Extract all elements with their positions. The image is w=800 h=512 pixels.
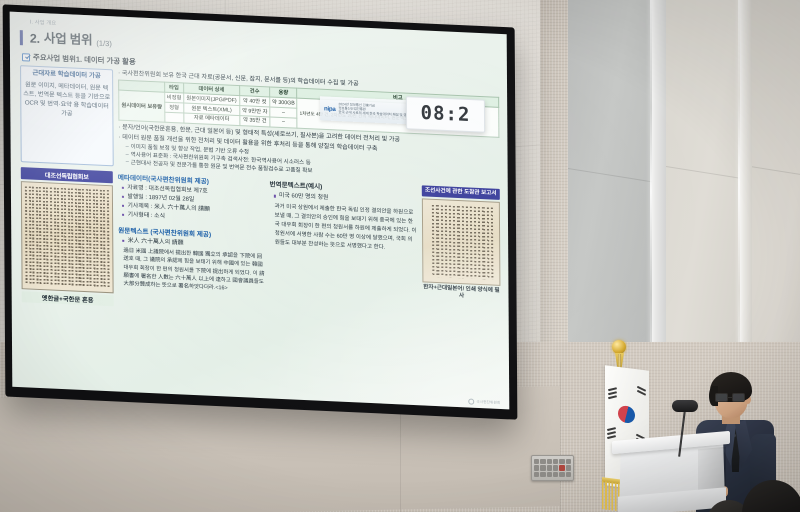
org-line: 한국 근대 사료의 세계 한국 학습데이터 해설 및 영상 xyxy=(339,111,410,118)
slide-footer-logo: 국사편찬위원회 xyxy=(468,398,500,405)
translation-body: 과거 미국 상원에서 제출한 한국 독립 인정 결의안을 하원으로 보낼 때, … xyxy=(275,203,418,253)
doc-right-caption-bottom: 한자+근대일본어/ 인쇄 양식에 필사 xyxy=(422,284,500,302)
logo-ring-icon xyxy=(468,398,474,404)
td-type-3 xyxy=(165,112,184,123)
left-document-panel: 대조선독립협회보 옛한글+국한문 혼용 xyxy=(21,168,114,307)
flag-finial-icon xyxy=(612,340,626,354)
left-summary-box: 근대자료 학습데이터 가공 원문 이미지, 메타데이터, 원문 텍스트, 번역문… xyxy=(20,65,114,167)
title-accent-bar xyxy=(20,30,23,45)
av-control-panel[interactable] xyxy=(531,455,574,481)
gooseneck-microphone xyxy=(672,400,730,456)
left-box-heading: 근대자료 학습데이터 가공 xyxy=(23,69,110,81)
td-detail-3: 자료 메타데이터 xyxy=(183,113,239,125)
timer-display: 08:2 xyxy=(406,96,485,133)
mic-capsule xyxy=(672,400,698,412)
projected-slide: Ⅰ. 사업 개요 2. 사업 범위 (1/3) 주요사업 범위1. 데이터 가공… xyxy=(10,12,510,410)
section-label: 주요사업 범위1. 데이터 가공 활용 xyxy=(33,52,136,68)
checkbox-check-icon xyxy=(22,53,30,61)
projection-screen: Ⅰ. 사업 개요 2. 사업 범위 (1/3) 주요사업 범위1. 데이터 가공… xyxy=(3,4,518,419)
left-box-body: 원문 이미지, 메타데이터, 원문 텍스트, 번역문 텍스트 등을 기반으로 O… xyxy=(23,82,110,121)
japanese-era-report-scan xyxy=(422,198,501,286)
td-size-3: – xyxy=(270,117,297,128)
slide-content: Ⅰ. 사업 개요 2. 사업 범위 (1/3) 주요사업 범위1. 데이터 가공… xyxy=(10,12,510,410)
timer-value: 08:2 xyxy=(421,104,471,125)
title-pagination: (1/3) xyxy=(96,39,111,50)
source-text-body: 過日 米國 上議院에서 提出한 韓國 獨立의 承認을 下院에 回送호 때, 그 … xyxy=(123,247,265,295)
mic-stem xyxy=(678,409,686,457)
lower-content-row: 대조선독립협회보 옛한글+국한문 혼용 xyxy=(21,168,501,325)
right-document-panel: 조선사건에 관한 도참관 보고서 한자+근대일본어/ 인쇄 양식에 필사 xyxy=(422,186,501,325)
title-text: 사업 범위 xyxy=(44,27,93,48)
nipa-logo: nipa xyxy=(324,105,336,113)
taeguk-symbol-icon xyxy=(615,404,637,425)
td-row-label: 원시데이터 보유량 xyxy=(119,90,165,122)
old-korean-document-scan xyxy=(21,182,114,294)
logo-text: 국사편찬위원회 xyxy=(476,399,500,405)
conference-room-scene: Ⅰ. 사업 개요 2. 사업 범위 (1/3) 주요사업 범위1. 데이터 가공… xyxy=(0,0,800,512)
overlay-org-text: 2024년 정보통신 진흥기금 정보통신산업진흥원 한국 근대 사료의 세계 한… xyxy=(338,103,409,119)
screen-frame: Ⅰ. 사업 개요 2. 사업 범위 (1/3) 주요사업 범위1. 데이터 가공… xyxy=(3,4,518,419)
doc-left-caption-bottom: 옛한글+국한문 혼용 xyxy=(22,292,114,307)
metadata-column: 메타데이터(국사편찬위원회 제공) 자료명 : 대조선독립협회보 제7호 발행일… xyxy=(118,172,266,314)
translation-column: 번역문텍스트(예시) 미국 60만 명의 청원 과거 미국 상원에서 제출한 한… xyxy=(269,179,417,321)
title-number: 2. xyxy=(30,32,40,46)
td-count-3: 약 35만 건 xyxy=(240,116,270,127)
doc-right-caption-top: 조선사건에 관한 도참관 보고서 xyxy=(422,186,500,200)
metadata-list: 자료명 : 대조선독립협회보 제7호 발행일 : 1897년 02월 28일 기… xyxy=(122,184,265,226)
